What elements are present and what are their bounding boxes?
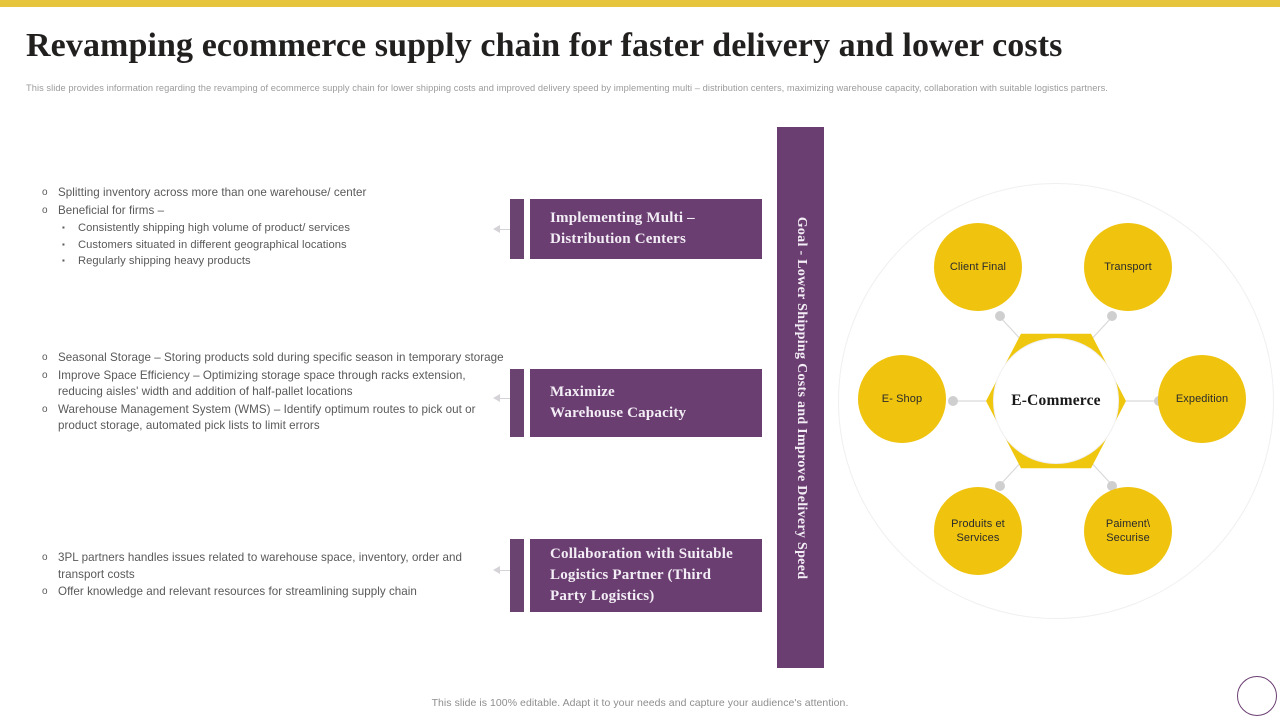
bullet-group-2: o Seasonal Storage – Storing products so… [40,350,510,436]
bullet-text: Warehouse Management System (WMS) – Iden… [58,402,510,435]
accent-bar [510,539,524,612]
strategy-box-line-2: Logistics Partner (Third [550,565,762,586]
diagram-node-label: E- Shop [876,392,928,406]
strategy-box-line-3: Party Logistics) [550,586,762,607]
diagram-node-produits-et-services[interactable]: Produits et Services [934,487,1022,575]
bullet-text: Offer knowledge and relevant resources f… [58,584,417,601]
bullet-marker: ▪ [60,253,78,270]
list-item: o Beneficial for firms – [40,203,510,220]
list-item: ▪ Consistently shipping high volume of p… [60,220,510,237]
goal-banner-label: Goal - Lower Shipping Costs and Improve … [793,216,809,579]
bullet-text: Improve Space Efficiency – Optimizing st… [58,368,510,401]
strategy-box-collaboration-logistics-partner[interactable]: Collaboration with Suitable Logistics Pa… [510,539,762,612]
diagram-node-label: Expedition [1170,392,1234,406]
diagram-node-label: Transport [1098,260,1158,274]
list-item: o Warehouse Management System (WMS) – Id… [40,402,510,435]
bullet-marker: o [40,584,58,601]
strategy-box-maximize-warehouse-capacity[interactable]: Maximize Warehouse Capacity [510,369,762,437]
bullet-marker: ▪ [60,220,78,237]
bullet-text: Splitting inventory across more than one… [58,185,366,202]
bullet-text: Seasonal Storage – Storing products sold… [58,350,504,367]
accent-bar [510,199,524,259]
strategy-box-body: Implementing Multi – Distribution Center… [530,199,762,259]
top-accent-bar [0,0,1280,7]
diagram-node-label: Produits et Services [934,517,1022,545]
page-title: Revamping ecommerce supply chain for fas… [26,27,1226,65]
bullet-marker: o [40,368,58,385]
accent-bar [510,369,524,437]
page-subtitle: This slide provides information regardin… [26,82,1244,95]
decorative-circle [1237,676,1277,716]
strategy-box-line-2: Distribution Centers [550,229,762,250]
diagram-node-expedition[interactable]: Expedition [1158,355,1246,443]
list-item: ▪ Regularly shipping heavy products [60,253,510,270]
strategy-box-multi-distribution-centers[interactable]: Implementing Multi – Distribution Center… [510,199,762,259]
strategy-box-body: Collaboration with Suitable Logistics Pa… [530,539,762,612]
diagram-node-label: Paiment\ Securise [1084,517,1172,545]
list-item: o Splitting inventory across more than o… [40,185,510,202]
diagram-node-client-final[interactable]: Client Final [934,223,1022,311]
strategy-box-body: Maximize Warehouse Capacity [530,369,762,437]
diagram-hub-circle: E-Commerce [993,338,1119,464]
bullet-group-3: o 3PL partners handles issues related to… [40,550,510,602]
strategy-box-line-2: Warehouse Capacity [550,403,762,424]
bullet-group-1: o Splitting inventory across more than o… [40,185,510,270]
bullet-text: Beneficial for firms – [58,203,164,220]
ecommerce-cycle-diagram: Client Final Transport Expedition Paimen… [838,183,1274,619]
list-item: o Seasonal Storage – Storing products so… [40,350,510,367]
diagram-hub: E-Commerce [986,331,1126,471]
bullet-marker: o [40,350,58,367]
bullet-text: Regularly shipping heavy products [78,253,251,270]
list-item: o 3PL partners handles issues related to… [40,550,510,583]
goal-banner: Goal - Lower Shipping Costs and Improve … [777,127,824,668]
bullet-marker: o [40,185,58,202]
bullet-marker: o [40,203,58,220]
list-item: o Improve Space Efficiency – Optimizing … [40,368,510,401]
diagram-node-e-shop[interactable]: E- Shop [858,355,946,443]
bullet-text: 3PL partners handles issues related to w… [58,550,510,583]
bullet-marker: o [40,550,58,567]
strategy-box-line-1: Collaboration with Suitable [550,544,762,565]
bullet-marker: ▪ [60,237,78,254]
strategy-box-line-1: Maximize [550,382,762,403]
diagram-node-transport[interactable]: Transport [1084,223,1172,311]
strategy-box-line-1: Implementing Multi – [550,208,762,229]
diagram-node-paiement-securise[interactable]: Paiment\ Securise [1084,487,1172,575]
bullet-text: Consistently shipping high volume of pro… [78,220,350,237]
diagram-center-label: E-Commerce [1011,392,1101,410]
diagram-node-label: Client Final [944,260,1012,274]
list-item: ▪ Customers situated in different geogra… [60,237,510,254]
bullet-sublist: ▪ Consistently shipping high volume of p… [60,220,510,270]
bullet-marker: o [40,402,58,419]
footer-note: This slide is 100% editable. Adapt it to… [0,697,1280,709]
list-item: o Offer knowledge and relevant resources… [40,584,510,601]
bullet-text: Customers situated in different geograph… [78,237,347,254]
